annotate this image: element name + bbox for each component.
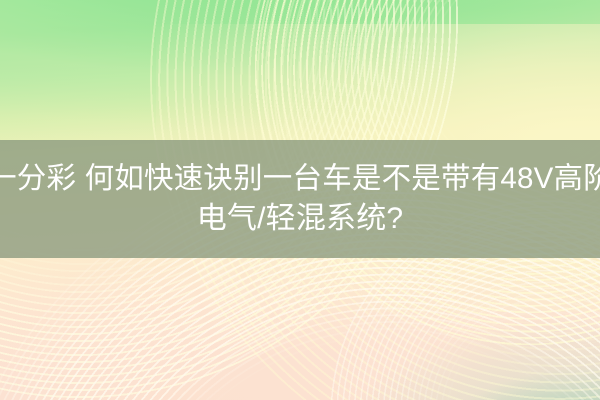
caption-banner: 一分彩 何如快速诀别一台车是不是带有48V高阶 电气/轻混系统? [0, 140, 600, 258]
caption-line-2: 电气/轻混系统? [197, 199, 404, 239]
caption-line-1: 一分彩 何如快速诀别一台车是不是带有48V高阶 [0, 159, 600, 199]
thumbnail-image: 一分彩 何如快速诀别一台车是不是带有48V高阶 电气/轻混系统? [0, 0, 600, 400]
background-teal-corner [348, 312, 600, 400]
